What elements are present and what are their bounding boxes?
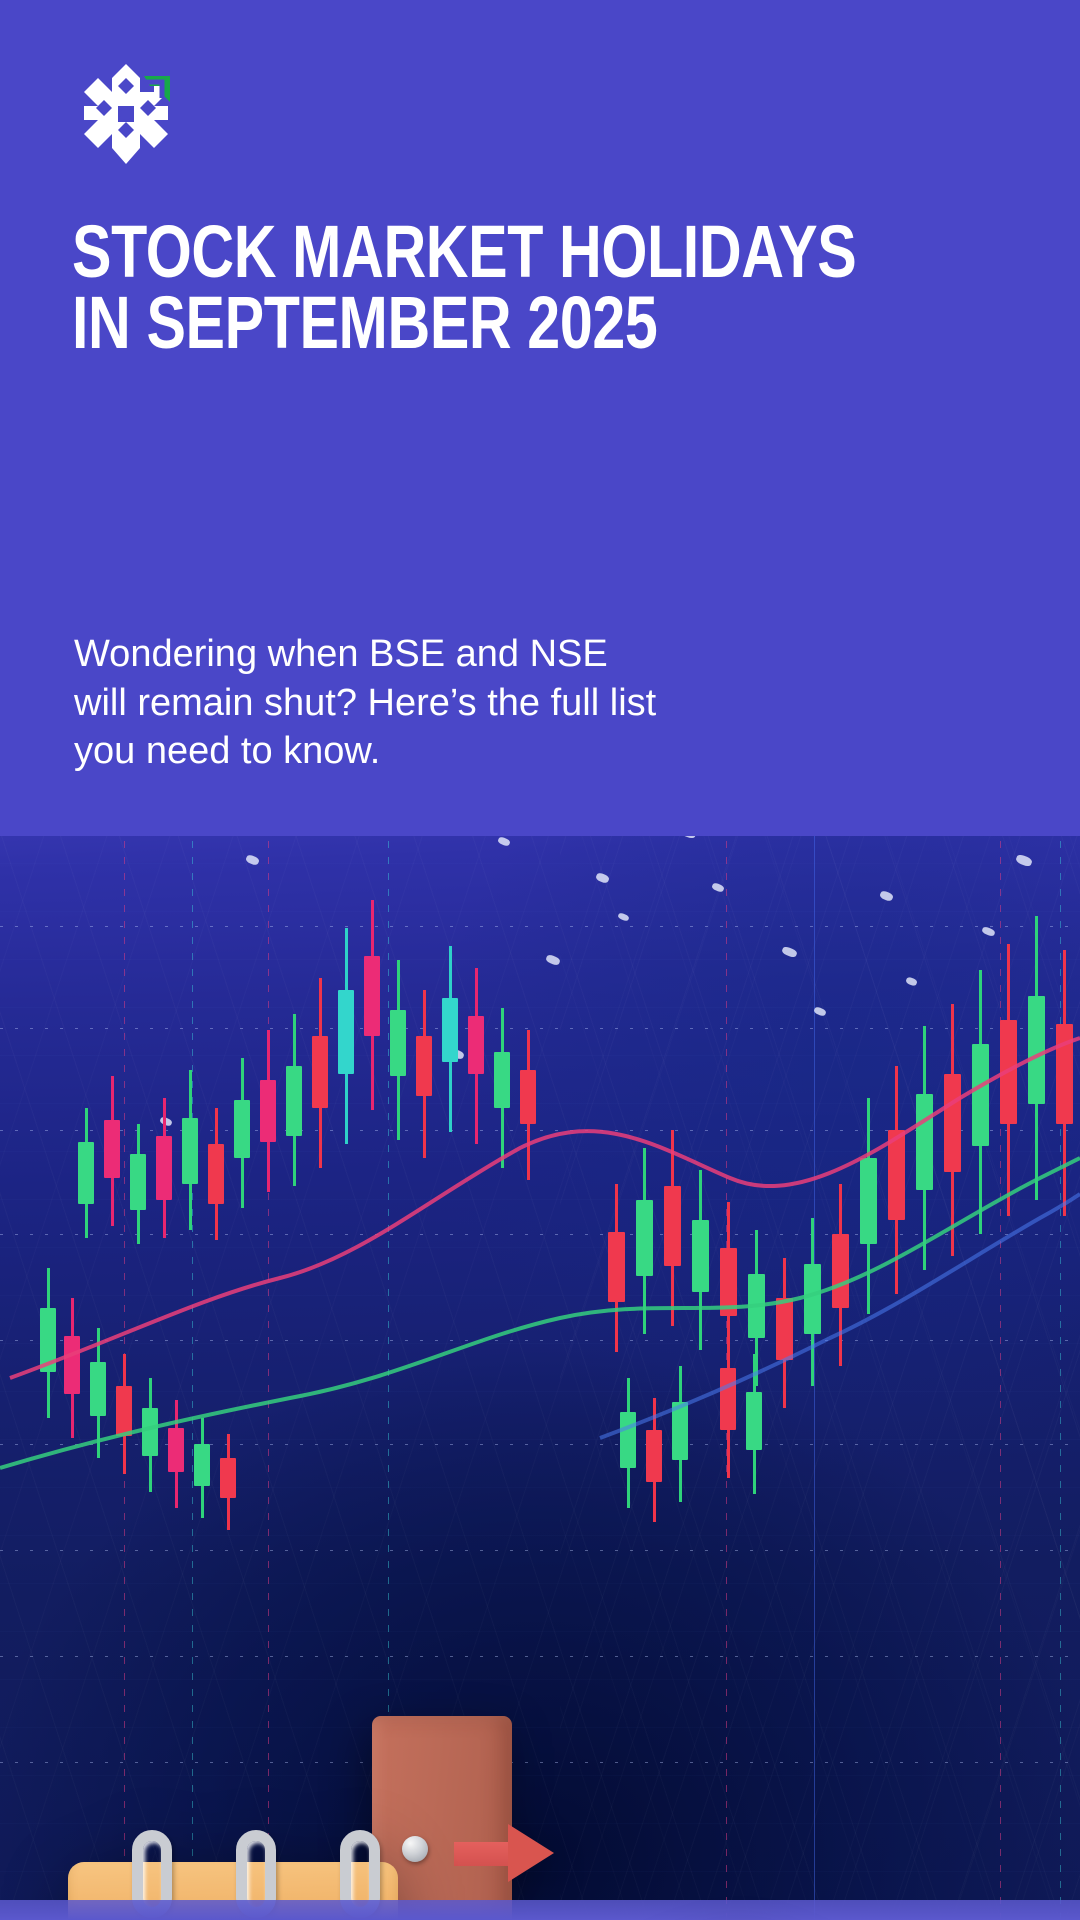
page-subtitle: Wondering when BSE and NSE will remain s… — [74, 630, 774, 776]
title-line-2: IN SEPTEMBER 2025 — [72, 287, 792, 358]
arrow-shaft — [454, 1842, 516, 1866]
brand-logo[interactable] — [74, 62, 178, 166]
geometric-star-logo-icon — [74, 62, 178, 166]
bull-illustration — [404, 1870, 1080, 1920]
page-title: STOCK MARKET HOLIDAYS IN SEPTEMBER 2025 — [72, 216, 792, 358]
low-poly-bull — [404, 1870, 1080, 1920]
subtitle-line-2: will remain shut? Here’s the full list — [74, 679, 774, 728]
title-line-1: STOCK MARKET HOLIDAYS — [72, 216, 792, 287]
trend-line-magenta — [10, 1038, 1080, 1378]
trend-line-green — [0, 1158, 1080, 1468]
poster-root: STOCK MARKET HOLIDAYS IN SEPTEMBER 2025 … — [0, 0, 1080, 1920]
trend-line-blue — [600, 1194, 1080, 1438]
door-knob-icon — [402, 1836, 428, 1862]
subtitle-line-1: Wondering when BSE and NSE — [74, 630, 774, 679]
poster-header: STOCK MARKET HOLIDAYS IN SEPTEMBER 2025 … — [0, 0, 1080, 836]
subtitle-line-3: you need to know. — [74, 727, 774, 776]
scene-image — [0, 678, 1080, 1920]
